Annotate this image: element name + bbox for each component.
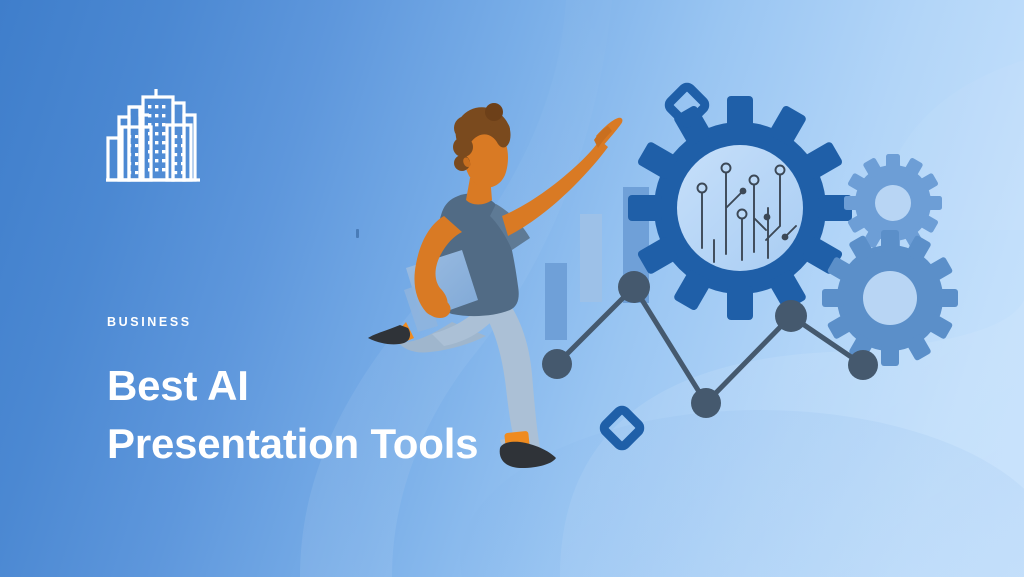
gear-medium-bottom-icon bbox=[822, 230, 958, 366]
headline-line-2: Presentation Tools bbox=[107, 415, 527, 474]
diamond-bottom-icon bbox=[602, 408, 642, 448]
bar-2 bbox=[580, 214, 602, 302]
decor-speck bbox=[356, 229, 359, 238]
slide-canvas: BUSINESS Best AI Presentation Tools bbox=[0, 0, 1024, 577]
kicker-label: BUSINESS bbox=[107, 316, 527, 329]
city-skyline-logo bbox=[105, 85, 201, 183]
headline-line-1: Best AI bbox=[107, 357, 527, 416]
gear-main-circuit-icon bbox=[628, 96, 852, 320]
page-title: Best AI Presentation Tools bbox=[107, 357, 527, 475]
bar-1 bbox=[545, 263, 567, 340]
title-text-block: BUSINESS Best AI Presentation Tools bbox=[107, 316, 527, 474]
